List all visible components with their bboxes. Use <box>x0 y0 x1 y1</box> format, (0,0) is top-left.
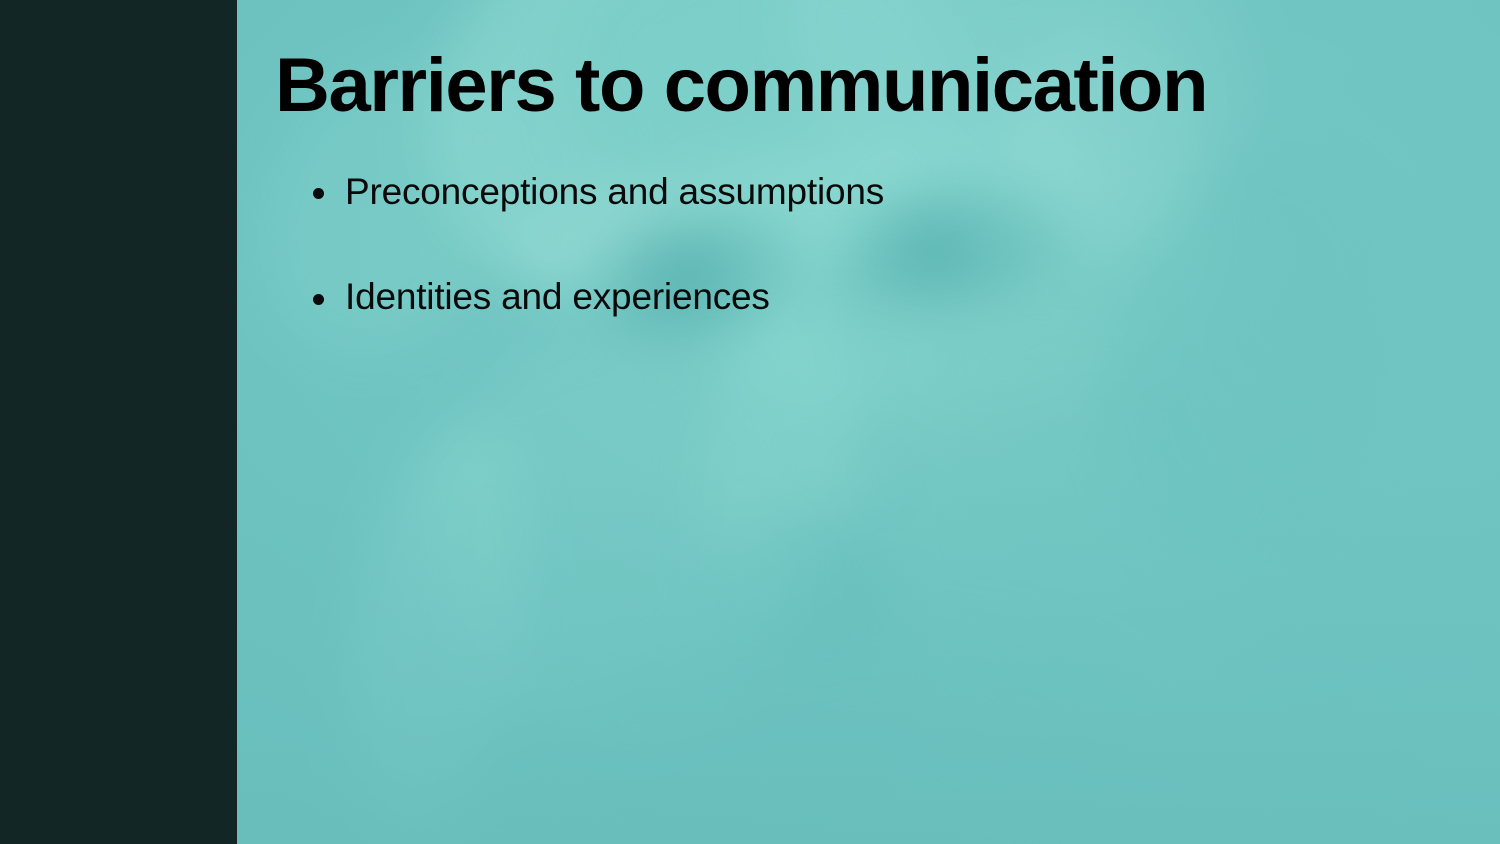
list-item: Preconceptions and assumptions <box>275 168 1375 215</box>
list-item-label: Identities and experiences <box>345 276 770 317</box>
bullet-dot-icon <box>313 188 324 199</box>
slide-content-panel: Barriers to communication Preconceptions… <box>237 0 1500 844</box>
list-item: Identities and experiences <box>275 273 1375 320</box>
list-item-label: Preconceptions and assumptions <box>345 171 884 212</box>
presentation-slide: Barriers to communication Preconceptions… <box>0 0 1500 844</box>
bullet-list: Preconceptions and assumptions Identitie… <box>275 168 1375 379</box>
left-accent-band <box>0 0 237 844</box>
slide-text-layer: Barriers to communication Preconceptions… <box>237 0 1500 844</box>
bullet-dot-icon <box>313 294 324 305</box>
slide-title: Barriers to communication <box>275 46 1395 126</box>
